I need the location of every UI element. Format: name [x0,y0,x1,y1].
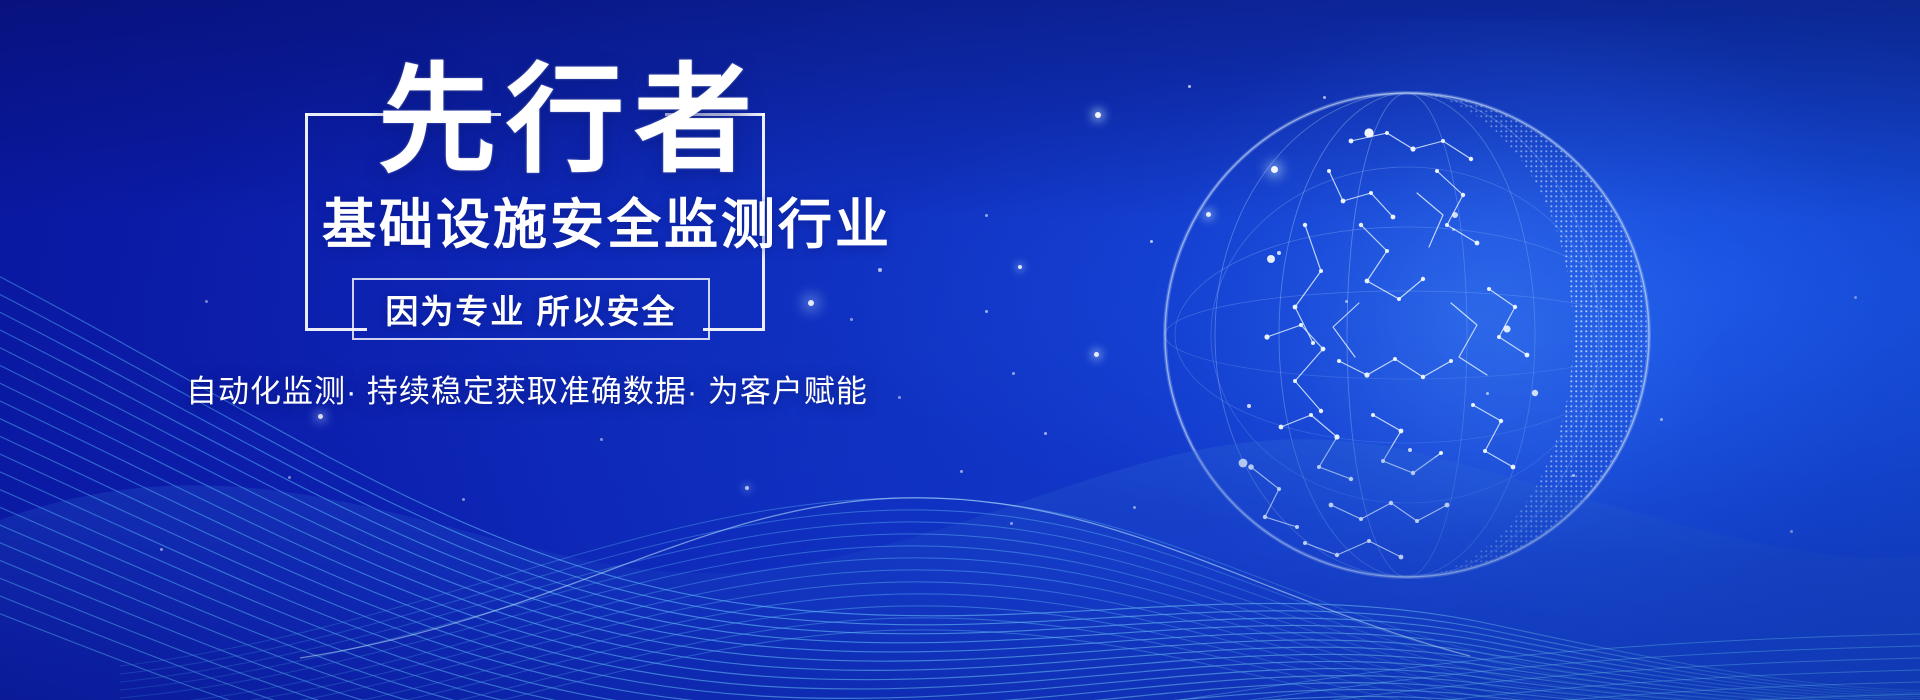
tagline: 自动化监测· 持续稳定获取准确数据· 为客户赋能 [186,372,946,412]
hero-banner: 先行者 基础设施安全监测行业 因为专业 所以安全 自动化监测· 持续稳定获取准确… [0,0,1920,700]
headline: 先行者 [378,62,938,180]
slogan-text: 因为专业 所以安全 [385,285,676,333]
subheadline: 基础设施安全监测行业 [322,196,962,254]
hero-copy: 先行者 基础设施安全监测行业 因为专业 所以安全 自动化监测· 持续稳定获取准确… [0,0,1100,700]
bracket-bottom-right-horizontal [703,328,765,331]
bracket-left-vertical [305,113,308,328]
slogan-box: 因为专业 所以安全 [352,278,710,340]
